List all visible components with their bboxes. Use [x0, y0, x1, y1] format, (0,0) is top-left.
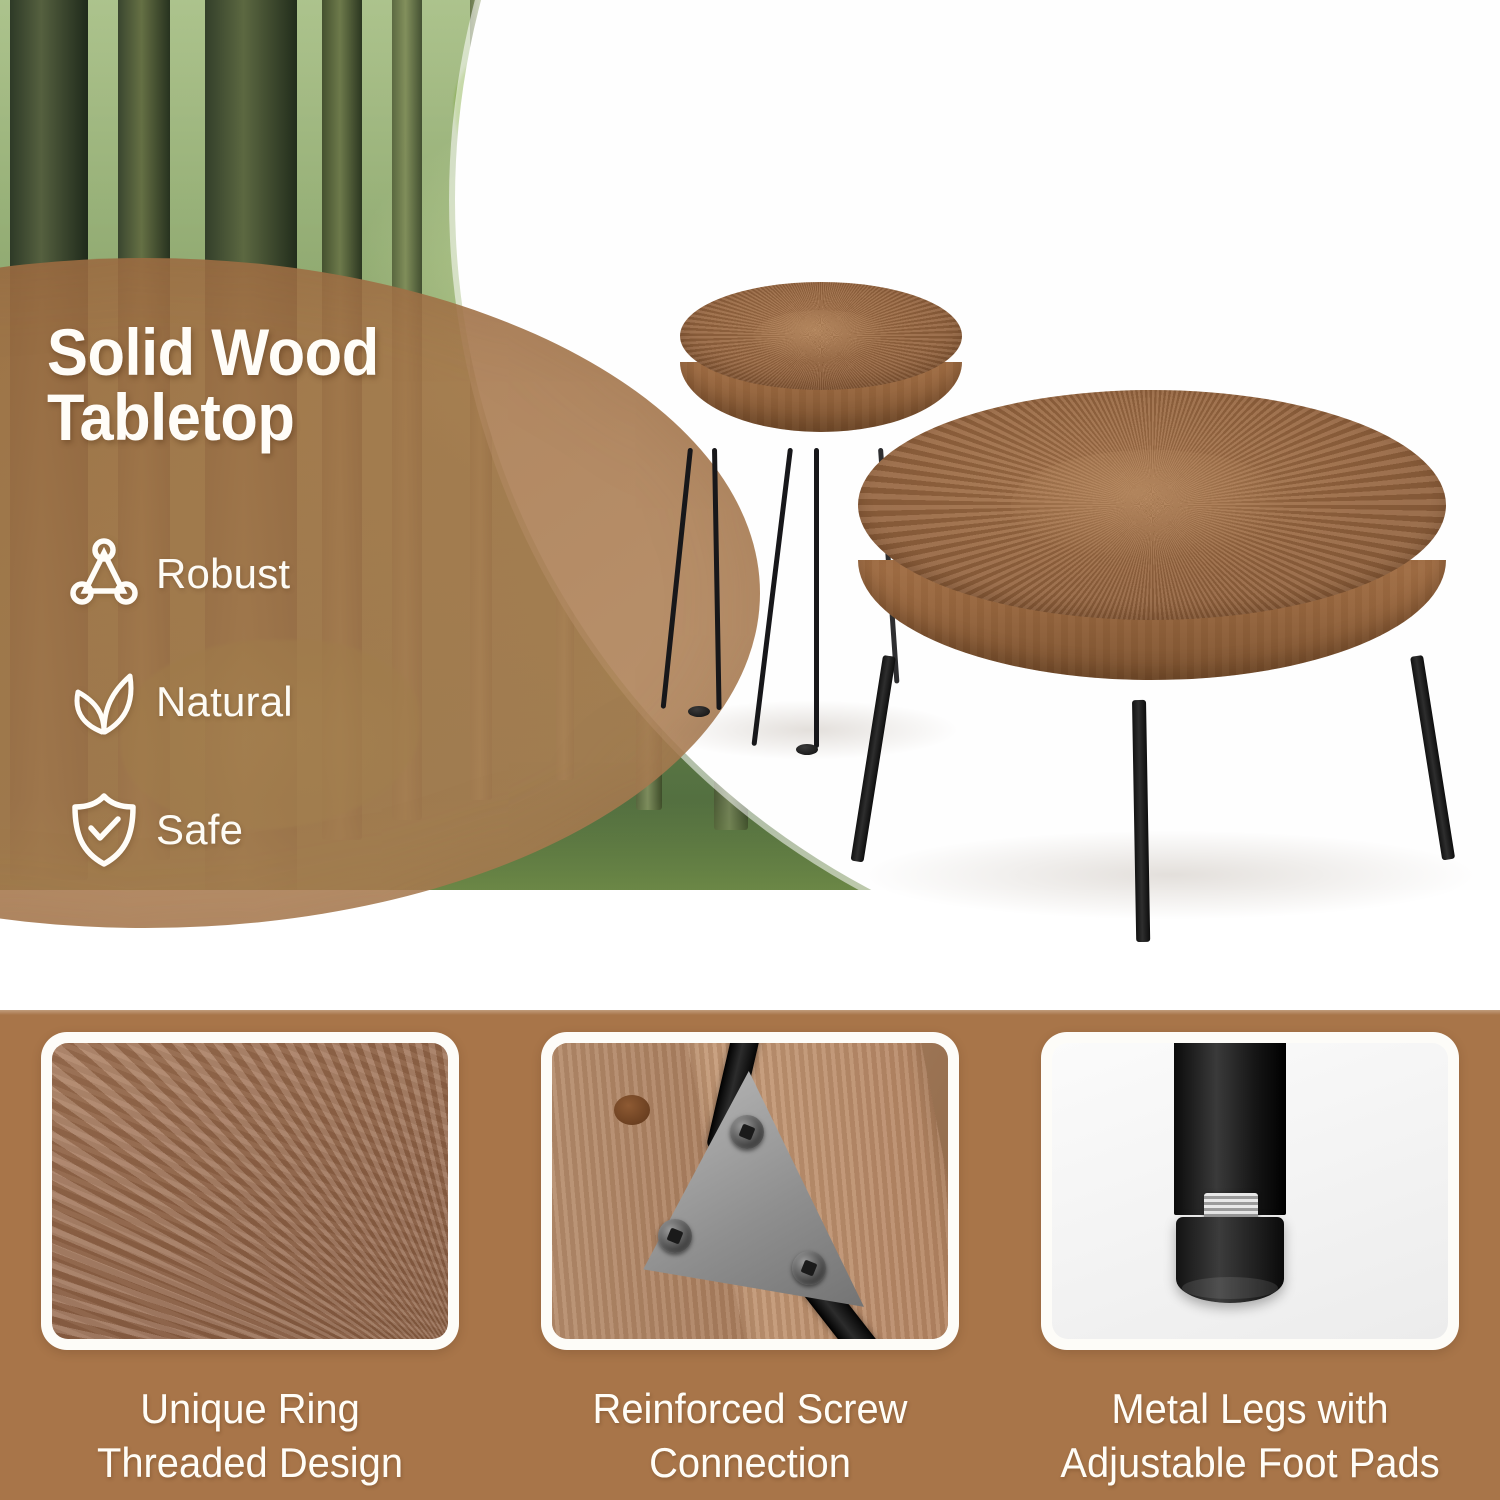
feature-card-ring-design — [41, 1032, 459, 1350]
feature-item-robust: Robust — [52, 510, 612, 638]
shield-check-icon — [52, 790, 156, 870]
metal-leg-foot-pad-image — [1052, 1043, 1448, 1339]
coffee-table-leg — [1132, 700, 1150, 942]
metal-bracket-screw-image — [552, 1043, 948, 1339]
caption-line-1: Reinforced Screw — [546, 1382, 955, 1436]
feature-list: Robust Natural — [52, 510, 612, 894]
band-top-highlight — [0, 1010, 1500, 1015]
feature-item-safe: Safe — [52, 766, 612, 894]
hero-section: Solid Wood Tabletop Robust — [0, 0, 1500, 1010]
headline-line-1: Solid Wood — [47, 315, 379, 389]
feature-label: Natural — [156, 678, 293, 726]
metal-leg-tube — [1174, 1043, 1286, 1215]
headline-line-2: Tabletop — [47, 385, 605, 450]
coffee-table-top — [858, 390, 1446, 620]
feature-card-caption: Unique Ring Threaded Design — [46, 1382, 455, 1490]
hex-screw — [730, 1115, 764, 1149]
caption-wrapper: Reinforced Screw Connection — [500, 1382, 1000, 1490]
feature-card-screw-connection — [541, 1032, 959, 1350]
adjustable-foot-pad — [1176, 1217, 1284, 1303]
feature-card-wrapper — [500, 1032, 1000, 1362]
feature-item-natural: Natural — [52, 638, 612, 766]
caption-line-2: Threaded Design — [46, 1436, 455, 1490]
feature-label: Robust — [156, 550, 290, 598]
hero-text-panel: Solid Wood Tabletop Robust — [0, 258, 700, 928]
triangle-nodes-icon — [52, 535, 156, 613]
caption-line-1: Metal Legs with — [1046, 1382, 1455, 1436]
feature-caption-row: Unique Ring Threaded Design Reinforced S… — [0, 1382, 1500, 1490]
product-photo-nesting-tables — [640, 270, 1480, 920]
coffee-table-leg — [1410, 655, 1455, 860]
caption-wrapper: Metal Legs with Adjustable Foot Pads — [1000, 1382, 1500, 1490]
feature-card-wrapper — [1000, 1032, 1500, 1362]
caption-wrapper: Unique Ring Threaded Design — [0, 1382, 500, 1490]
feature-card-caption: Metal Legs with Adjustable Foot Pads — [1046, 1382, 1455, 1490]
wood-ring-texture-image — [52, 1043, 448, 1339]
caption-line-2: Connection — [546, 1436, 955, 1490]
feature-card-wrapper — [0, 1032, 500, 1362]
page-title: Solid Wood Tabletop — [47, 320, 605, 449]
wood-knot — [614, 1095, 650, 1125]
feature-card-row — [0, 1032, 1500, 1362]
product-infographic: Solid Wood Tabletop Robust — [0, 0, 1500, 1500]
feature-card-foot-pads — [1041, 1032, 1459, 1350]
leaf-icon — [52, 662, 156, 742]
feature-card-caption: Reinforced Screw Connection — [546, 1382, 955, 1490]
hex-screw — [792, 1251, 826, 1285]
table-shadow — [860, 830, 1480, 920]
hex-screw — [658, 1219, 692, 1253]
feature-label: Safe — [156, 806, 243, 854]
feature-cards-section: Unique Ring Threaded Design Reinforced S… — [0, 1010, 1500, 1500]
caption-line-1: Unique Ring — [46, 1382, 455, 1436]
caption-line-2: Adjustable Foot Pads — [1046, 1436, 1455, 1490]
side-table-top — [680, 282, 962, 390]
